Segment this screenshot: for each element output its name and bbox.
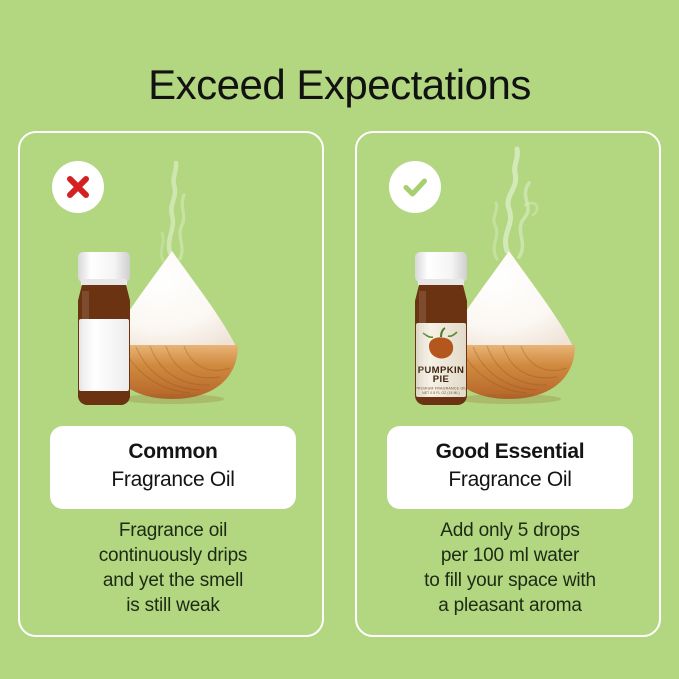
fragrance-bottle-pumpkin-pie: PUMPKIN PIE PREMIUM FRAGRANCE OIL NET 0.… [415, 252, 467, 405]
description-common: Fragrance oil continuously drips and yet… [30, 518, 316, 618]
nameplate-product: Fragrance Oil [60, 467, 286, 493]
comparison-card-good-essential: PUMPKIN PIE PREMIUM FRAGRANCE OIL NET 0.… [355, 131, 661, 637]
description-line: to fill your space with [367, 568, 653, 593]
status-badge-check [389, 161, 441, 213]
cross-icon [63, 172, 93, 202]
nameplate-common: Common Fragrance Oil [50, 426, 296, 509]
vapor-wisp-icon [161, 163, 184, 261]
bottle-label-line2: PIE [433, 374, 450, 385]
description-good-essential: Add only 5 drops per 100 ml water to fil… [367, 518, 653, 618]
nameplate-product: Fragrance Oil [397, 467, 623, 493]
description-line: and yet the smell [30, 568, 316, 593]
comparison-card-common: Common Fragrance Oil Fragrance oil conti… [18, 131, 324, 637]
description-line: a pleasant aroma [367, 593, 653, 618]
description-line: is still weak [30, 593, 316, 618]
bottle-label-fineprint2: NET 0.5 FL OZ (15 ML) [422, 391, 460, 395]
description-line: continuously drips [30, 543, 316, 568]
page-title: Exceed Expectations [0, 62, 679, 108]
nameplate-brand: Common [60, 440, 286, 465]
description-line: per 100 ml water [367, 543, 653, 568]
nameplate-brand: Good Essential [397, 440, 623, 465]
status-badge-cross [52, 161, 104, 213]
fragrance-bottle-unlabeled [78, 252, 130, 405]
vapor-plume-icon [494, 149, 537, 259]
comparison-cards: Common Fragrance Oil Fragrance oil conti… [0, 131, 679, 637]
description-line: Fragrance oil [30, 518, 316, 543]
description-line: Add only 5 drops [367, 518, 653, 543]
check-icon [398, 170, 432, 204]
nameplate-good-essential: Good Essential Fragrance Oil [387, 426, 633, 509]
